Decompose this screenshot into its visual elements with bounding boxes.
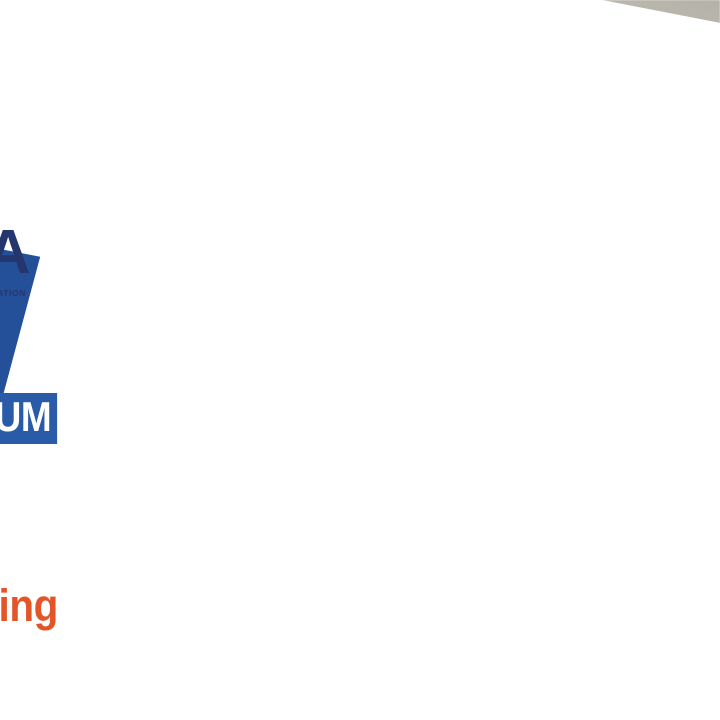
brand-logo[interactable]: CA ELL APPLICATION xyxy=(0,222,112,298)
subheadline-text: Training xyxy=(0,580,192,632)
logo-wordmark: CA xyxy=(0,222,112,284)
headline-line-1: ING xyxy=(0,348,168,393)
headline-line-2: ELGIUM xyxy=(0,393,57,444)
logo-tagline: ELL APPLICATION xyxy=(0,288,112,298)
headline-line-3: H xyxy=(0,444,168,489)
content-panel: CA ELL APPLICATION ING ELGIUM H Training xyxy=(0,0,186,720)
headline-line-2-wrap: ELGIUM xyxy=(0,393,168,444)
banner-canvas: CA ELL APPLICATION ING ELGIUM H Training xyxy=(0,0,720,720)
subheadline-block: Training xyxy=(0,580,224,632)
headline-block: ING ELGIUM H xyxy=(0,348,204,489)
